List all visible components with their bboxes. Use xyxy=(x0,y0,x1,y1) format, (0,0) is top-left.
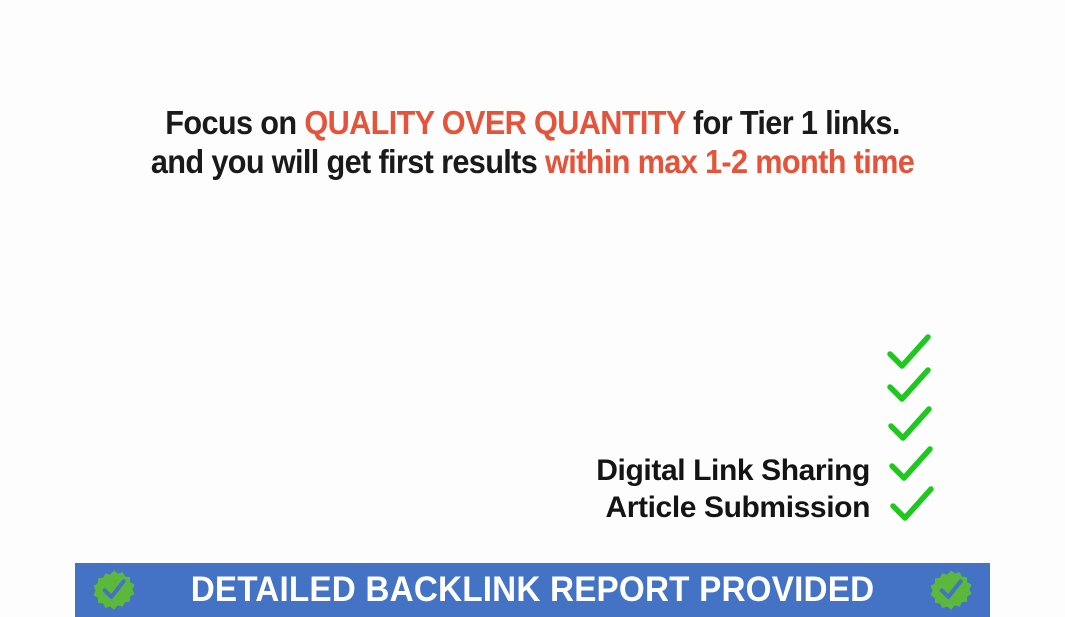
checkmark-column xyxy=(884,334,942,530)
headline-line1-emphasis: QUALITY OVER QUANTITY xyxy=(304,104,685,141)
headline-line2-lead: and you will get first results xyxy=(151,143,545,180)
headline-block: Focus on QUALITY OVER QUANTITY for Tier … xyxy=(0,104,1065,181)
green-check-icon xyxy=(886,367,932,407)
headline-line-2: and you will get first results within ma… xyxy=(37,143,1027,181)
headline-line2-emphasis: within max 1-2 month time xyxy=(545,143,914,180)
verified-badge-check-icon xyxy=(93,569,135,611)
headline-line1-lead: Focus on xyxy=(165,104,304,141)
headline-line-1: Focus on QUALITY OVER QUANTITY for Tier … xyxy=(37,104,1027,142)
detailed-report-banner: DETAILED BACKLINK REPORT PROVIDED xyxy=(75,563,990,617)
banner-title: DETAILED BACKLINK REPORT PROVIDED xyxy=(155,571,910,609)
headline-line1-tail: for Tier 1 links. xyxy=(685,104,900,141)
service-item-digital-link-sharing: Digital Link Sharing xyxy=(430,452,870,489)
slide-canvas: Focus on QUALITY OVER QUANTITY for Tier … xyxy=(0,0,1065,617)
service-item-article-submission: Article Submission xyxy=(430,489,870,526)
service-list: Digital Link Sharing Article Submission xyxy=(430,452,870,526)
green-check-icon xyxy=(888,446,934,486)
green-check-icon xyxy=(887,406,933,446)
green-check-icon xyxy=(889,486,935,526)
verified-badge-check-icon xyxy=(930,569,972,611)
